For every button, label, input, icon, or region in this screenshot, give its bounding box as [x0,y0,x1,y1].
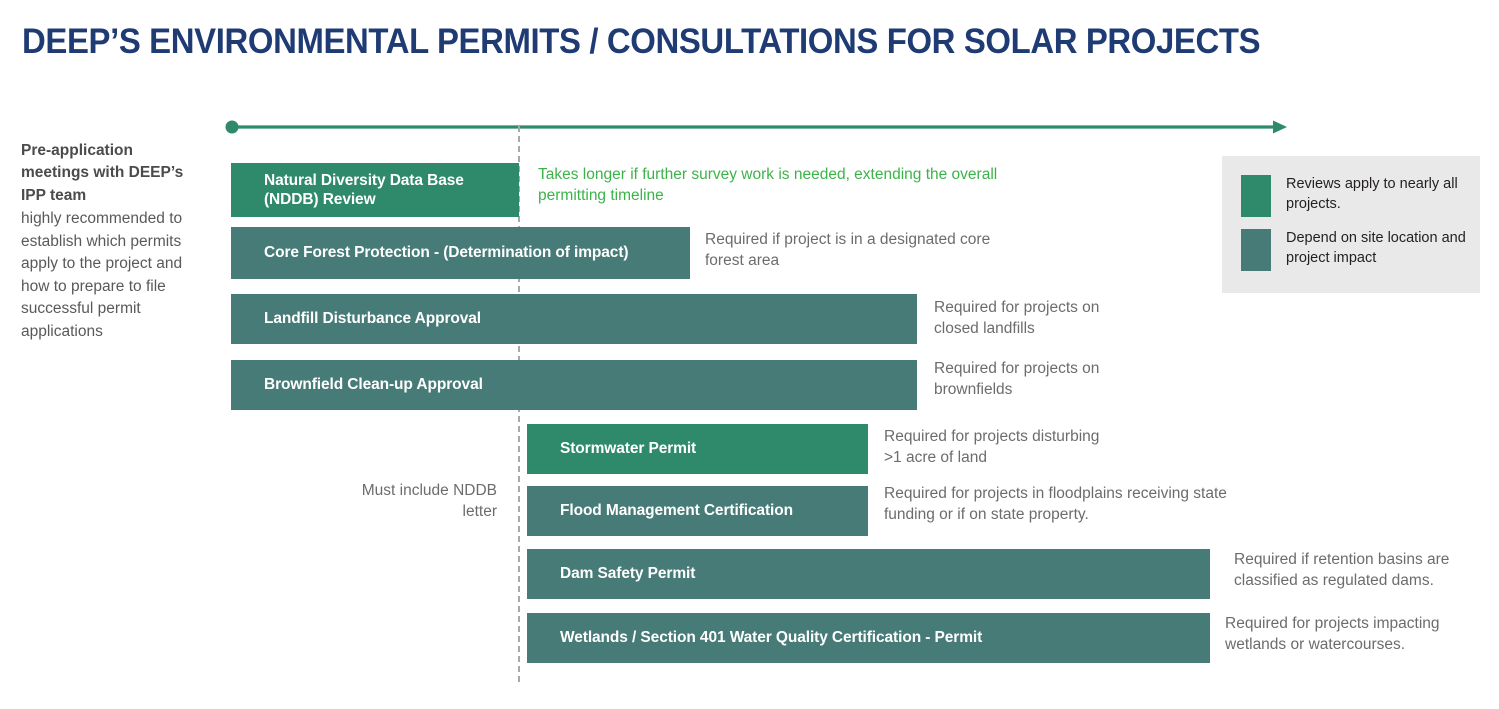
note-brownfield-cleanup: Required for projects on brownfields [934,359,1149,401]
legend-swatch-green-icon [1241,175,1271,217]
legend-swatch-slate-icon [1241,229,1271,271]
note-core-forest-protection: Required if project is in a designated c… [705,230,1005,272]
pre-application-note-heading: Pre-application meetings with DEEP’s IPP… [21,140,199,207]
note-dam-safety-permit: Required if retention basins are classif… [1234,550,1484,592]
legend: Reviews apply to nearly all projects. De… [1222,156,1480,293]
bar-nddb-review[interactable]: Natural Diversity Data Base (NDDB) Revie… [231,163,519,217]
bar-stormwater-permit[interactable]: Stormwater Permit [527,424,868,474]
bar-wetlands-section-401-permit[interactable]: Wetlands / Section 401 Water Quality Cer… [527,613,1210,663]
timeline-arrow-icon [225,118,1295,138]
bar-label: Stormwater Permit [560,439,696,458]
legend-item-reviews-apply: Reviews apply to nearly all projects. [1241,175,1466,217]
bar-label: Dam Safety Permit [560,564,695,583]
page-title: DEEP’S ENVIRONMENTAL PERMITS / CONSULTAT… [22,22,1260,62]
bar-label: Brownfield Clean-up Approval [264,375,483,394]
note-must-include-nddb-letter: Must include NDDB letter [357,481,497,523]
bar-flood-management-certification[interactable]: Flood Management Certification [527,486,868,536]
pre-application-note-body: highly recommended to establish which pe… [21,208,199,343]
bar-landfill-disturbance-approval[interactable]: Landfill Disturbance Approval [231,294,917,344]
legend-item-label: Depend on site location and project impa… [1286,229,1476,268]
permitting-timeline-arrow [225,118,1295,138]
bar-label: Wetlands / Section 401 Water Quality Cer… [560,628,982,647]
bar-core-forest-protection[interactable]: Core Forest Protection - (Determination … [231,227,690,279]
note-landfill-disturbance: Required for projects on closed landfill… [934,298,1134,340]
note-stormwater-permit: Required for projects disturbing >1 acre… [884,427,1114,469]
bar-label: Landfill Disturbance Approval [264,309,481,328]
bar-label: Core Forest Protection - (Determination … [264,243,628,262]
bar-brownfield-cleanup-approval[interactable]: Brownfield Clean-up Approval [231,360,917,410]
legend-item-depend-on-site: Depend on site location and project impa… [1241,229,1476,271]
pre-application-note: Pre-application meetings with DEEP’s IPP… [21,140,199,343]
bar-dam-safety-permit[interactable]: Dam Safety Permit [527,549,1210,599]
legend-item-label: Reviews apply to nearly all projects. [1286,175,1466,214]
bar-label: Natural Diversity Data Base (NDDB) Revie… [264,171,509,210]
note-wetlands-section-401: Required for projects impacting wetlands… [1225,614,1483,656]
bar-label: Flood Management Certification [560,501,793,520]
note-flood-management: Required for projects in floodplains rec… [884,484,1254,526]
note-nddb-review: Takes longer if further survey work is n… [538,165,1018,207]
